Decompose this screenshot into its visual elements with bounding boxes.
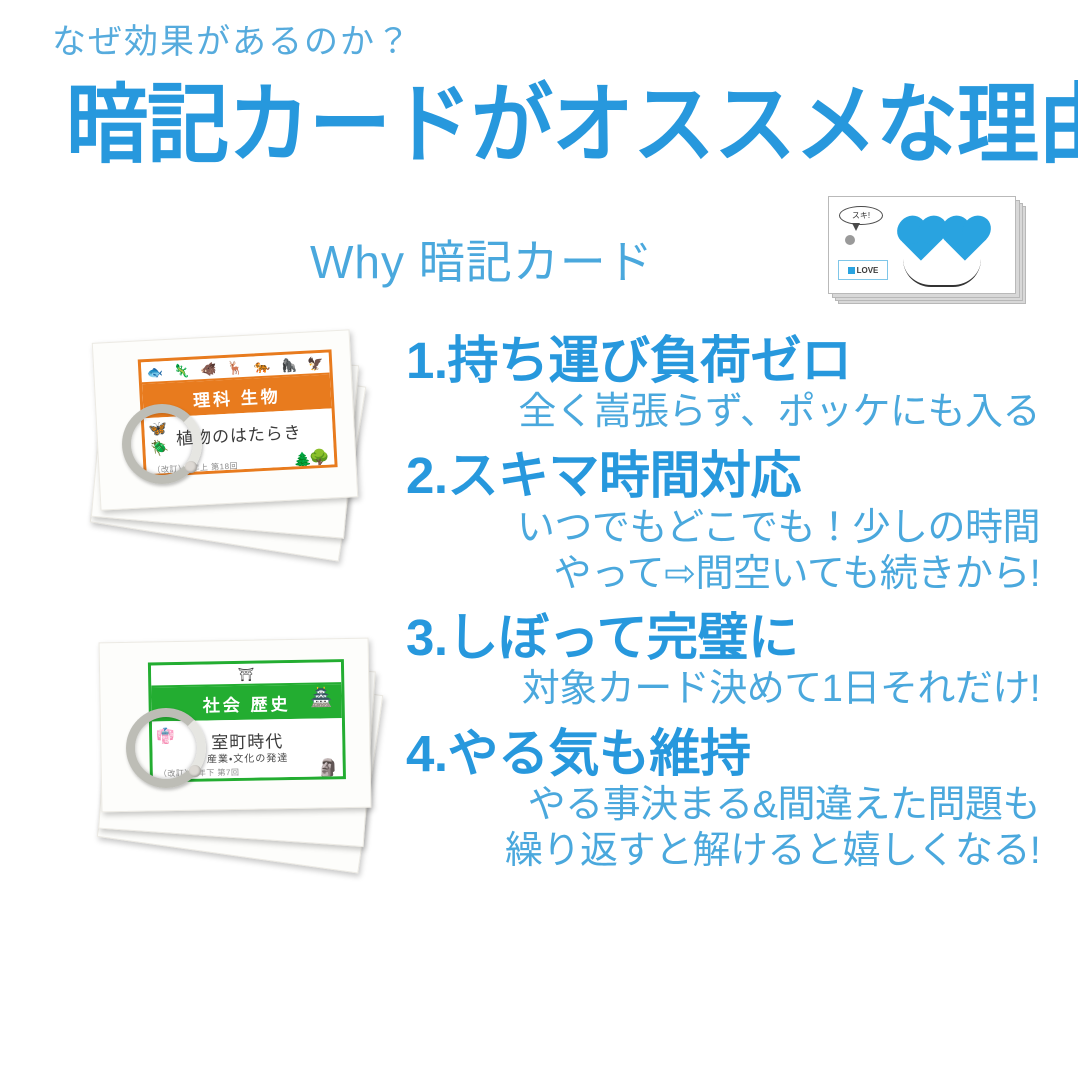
benefit-4-sub-line-2: 繰り返すと解けると嬉しくなる! [406, 828, 1046, 874]
bird-icon: 🦅 [307, 356, 324, 370]
poster-canvas: なぜ効果があるのか？ 暗記カードがオススメな理由 Why 暗記カード スキ! L… [0, 0, 1078, 1080]
benefit-item-2: 2.スキマ時間対応 いつでもどこでも！少しの時間 やって⇨間空いても続きから! [406, 447, 1046, 597]
tiger-icon: 🐅 [254, 359, 271, 373]
speech-bubble: スキ! [839, 206, 883, 225]
science-card-stack: 🐟 🦎 🐗 🦌 🐅 🦍 🦅 理科 生物 🦋 🪲 植物のはたらき 🌲 [84, 330, 404, 590]
benefit-1-title: 1.持ち運び負荷ゼロ [406, 332, 1046, 389]
social-card-header-text: 社会 歴史 [203, 690, 291, 717]
love-label-text: LOVE [857, 266, 879, 275]
deer-icon: 🦌 [227, 360, 244, 374]
science-flashcard-photo: 🐟 🦎 🐗 🦌 🐅 🦍 🦅 理科 生物 🦋 🪲 植物のはたらき 🌲 [84, 330, 404, 590]
science-binder-ring-icon [122, 404, 202, 484]
social-flashcard-photo: ⛩ 社会 歴史 🏯 👘 室町時代 産業・文化の発達 🗿 （改訂）5年下 第7回 [84, 632, 414, 902]
benefit-list: 1.持ち運び負荷ゼロ 全く嵩張らず、ポッケにも入る 2.スキマ時間対応 いつでも… [406, 332, 1046, 881]
heart-eye-left-icon [902, 220, 942, 260]
benefit-item-3: 3.しぼって完璧に 対象カード決めて1日それだけ! [406, 609, 1046, 712]
punch-hole-icon [845, 235, 855, 245]
social-card-stack: ⛩ 社会 歴史 🏯 👘 室町時代 産業・文化の発達 🗿 （改訂）5年下 第7回 [84, 632, 414, 902]
smile-icon [903, 259, 981, 287]
benefit-3-title: 3.しぼって完璧に [406, 609, 1046, 666]
benefit-4-sub-line-1: やる事決まる&間違えた問題も [406, 782, 1046, 828]
benefit-2-sub-line-1: いつでもどこでも！少しの時間 [406, 505, 1046, 551]
tree-icon: 🌳 [309, 450, 331, 468]
heart-eye-right-icon [946, 220, 986, 260]
why-heading: Why 暗記カード [310, 226, 654, 292]
fish-icon: 🐟 [146, 365, 163, 379]
benefit-3-sub-line-1: 対象カード決めて1日それだけ! [406, 666, 1046, 712]
social-binder-ring-icon [126, 708, 206, 788]
lizard-icon: 🦎 [173, 363, 190, 377]
benefit-item-4: 4.やる気も維持 やる事決まる&間違えた問題も 繰り返すと解けると嬉しくなる! [406, 725, 1046, 875]
page-title: 暗記カードがオススメな理由 [66, 54, 1078, 180]
shrine-gate-icon: ⛩ [238, 667, 255, 680]
samurai-icon: 🗿 [317, 759, 338, 776]
castle-icon: 🏯 [310, 687, 336, 708]
love-square-icon [848, 267, 855, 274]
illustration-card-front: スキ! LOVE [828, 196, 1016, 294]
love-label: LOVE [838, 260, 888, 280]
benefit-1-sub-line-1: 全く嵩張らず、ポッケにも入る [406, 389, 1046, 435]
benefit-2-sub-line-2: やって⇨間空いても続きから! [406, 551, 1046, 597]
benefit-2-title: 2.スキマ時間対応 [406, 447, 1046, 504]
gorilla-icon: 🦍 [280, 358, 297, 372]
benefit-item-1: 1.持ち運び負荷ゼロ 全く嵩張らず、ポッケにも入る [406, 332, 1046, 435]
benefit-4-title: 4.やる気も維持 [406, 725, 1046, 782]
boar-icon: 🐗 [200, 362, 217, 376]
